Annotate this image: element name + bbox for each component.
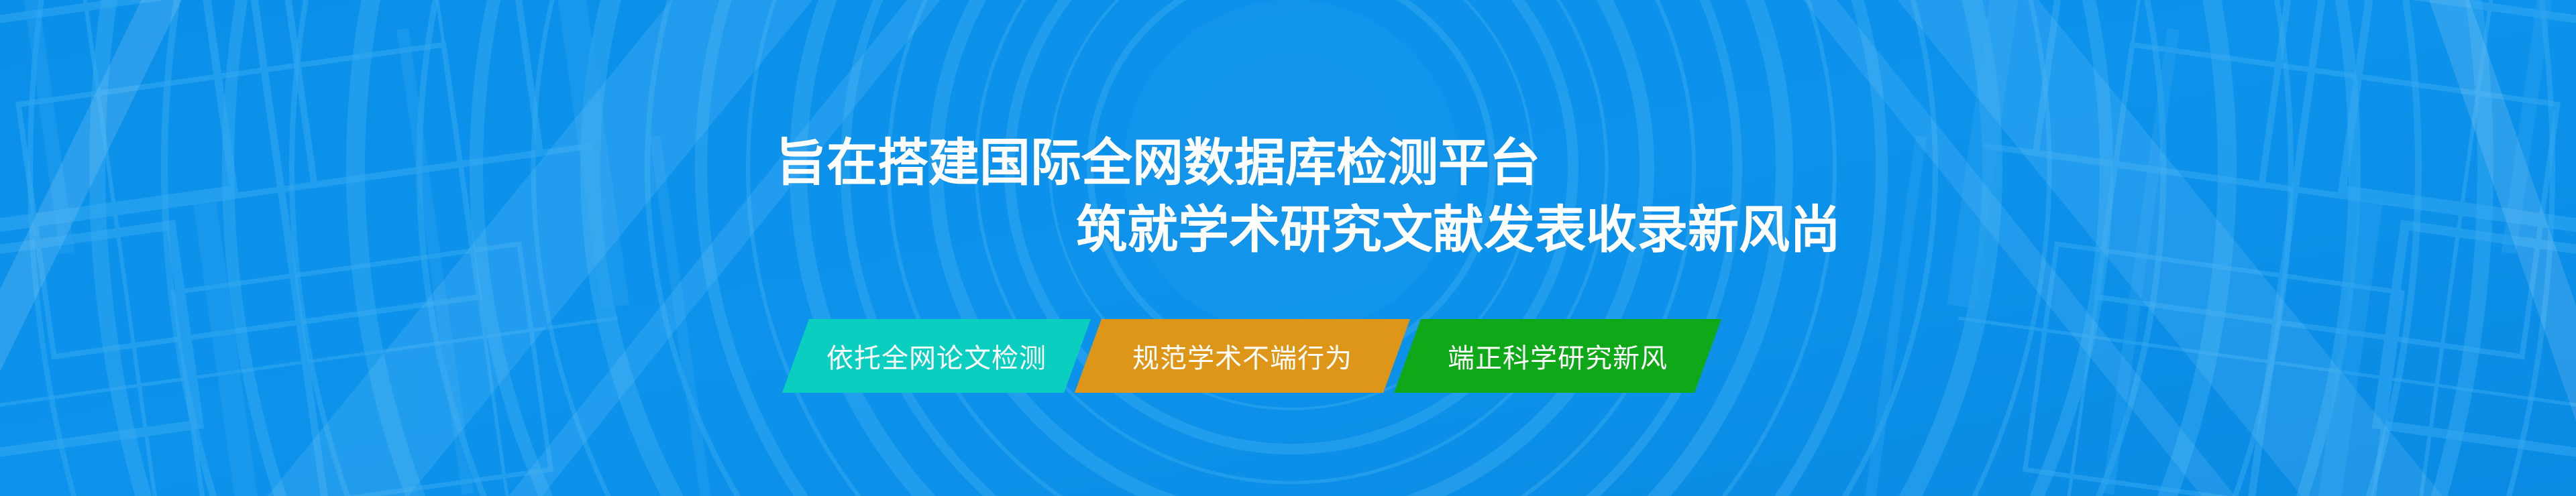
feature-tag-academic-misconduct[interactable]: 规范学术不端行为 — [1075, 319, 1410, 393]
feature-tag-label: 依托全网论文检测 — [826, 336, 1046, 375]
feature-tag-paper-detection[interactable]: 依托全网论文检测 — [782, 319, 1091, 393]
feature-tag-band: 依托全网论文检测 规范学术不端行为 端正科学研究新风 — [765, 319, 1811, 393]
feature-tag-label: 规范学术不端行为 — [1132, 336, 1352, 375]
feature-tag-label: 端正科学研究新风 — [1448, 336, 1668, 375]
background-decoration — [0, 0, 2576, 496]
promo-banner: 旨在搭建国际全网数据库检测平台 筑就学术研究文献发表收录新风尚 依托全网论文检测… — [0, 0, 2576, 496]
feature-tag-research-ethics[interactable]: 端正科学研究新风 — [1394, 319, 1721, 393]
